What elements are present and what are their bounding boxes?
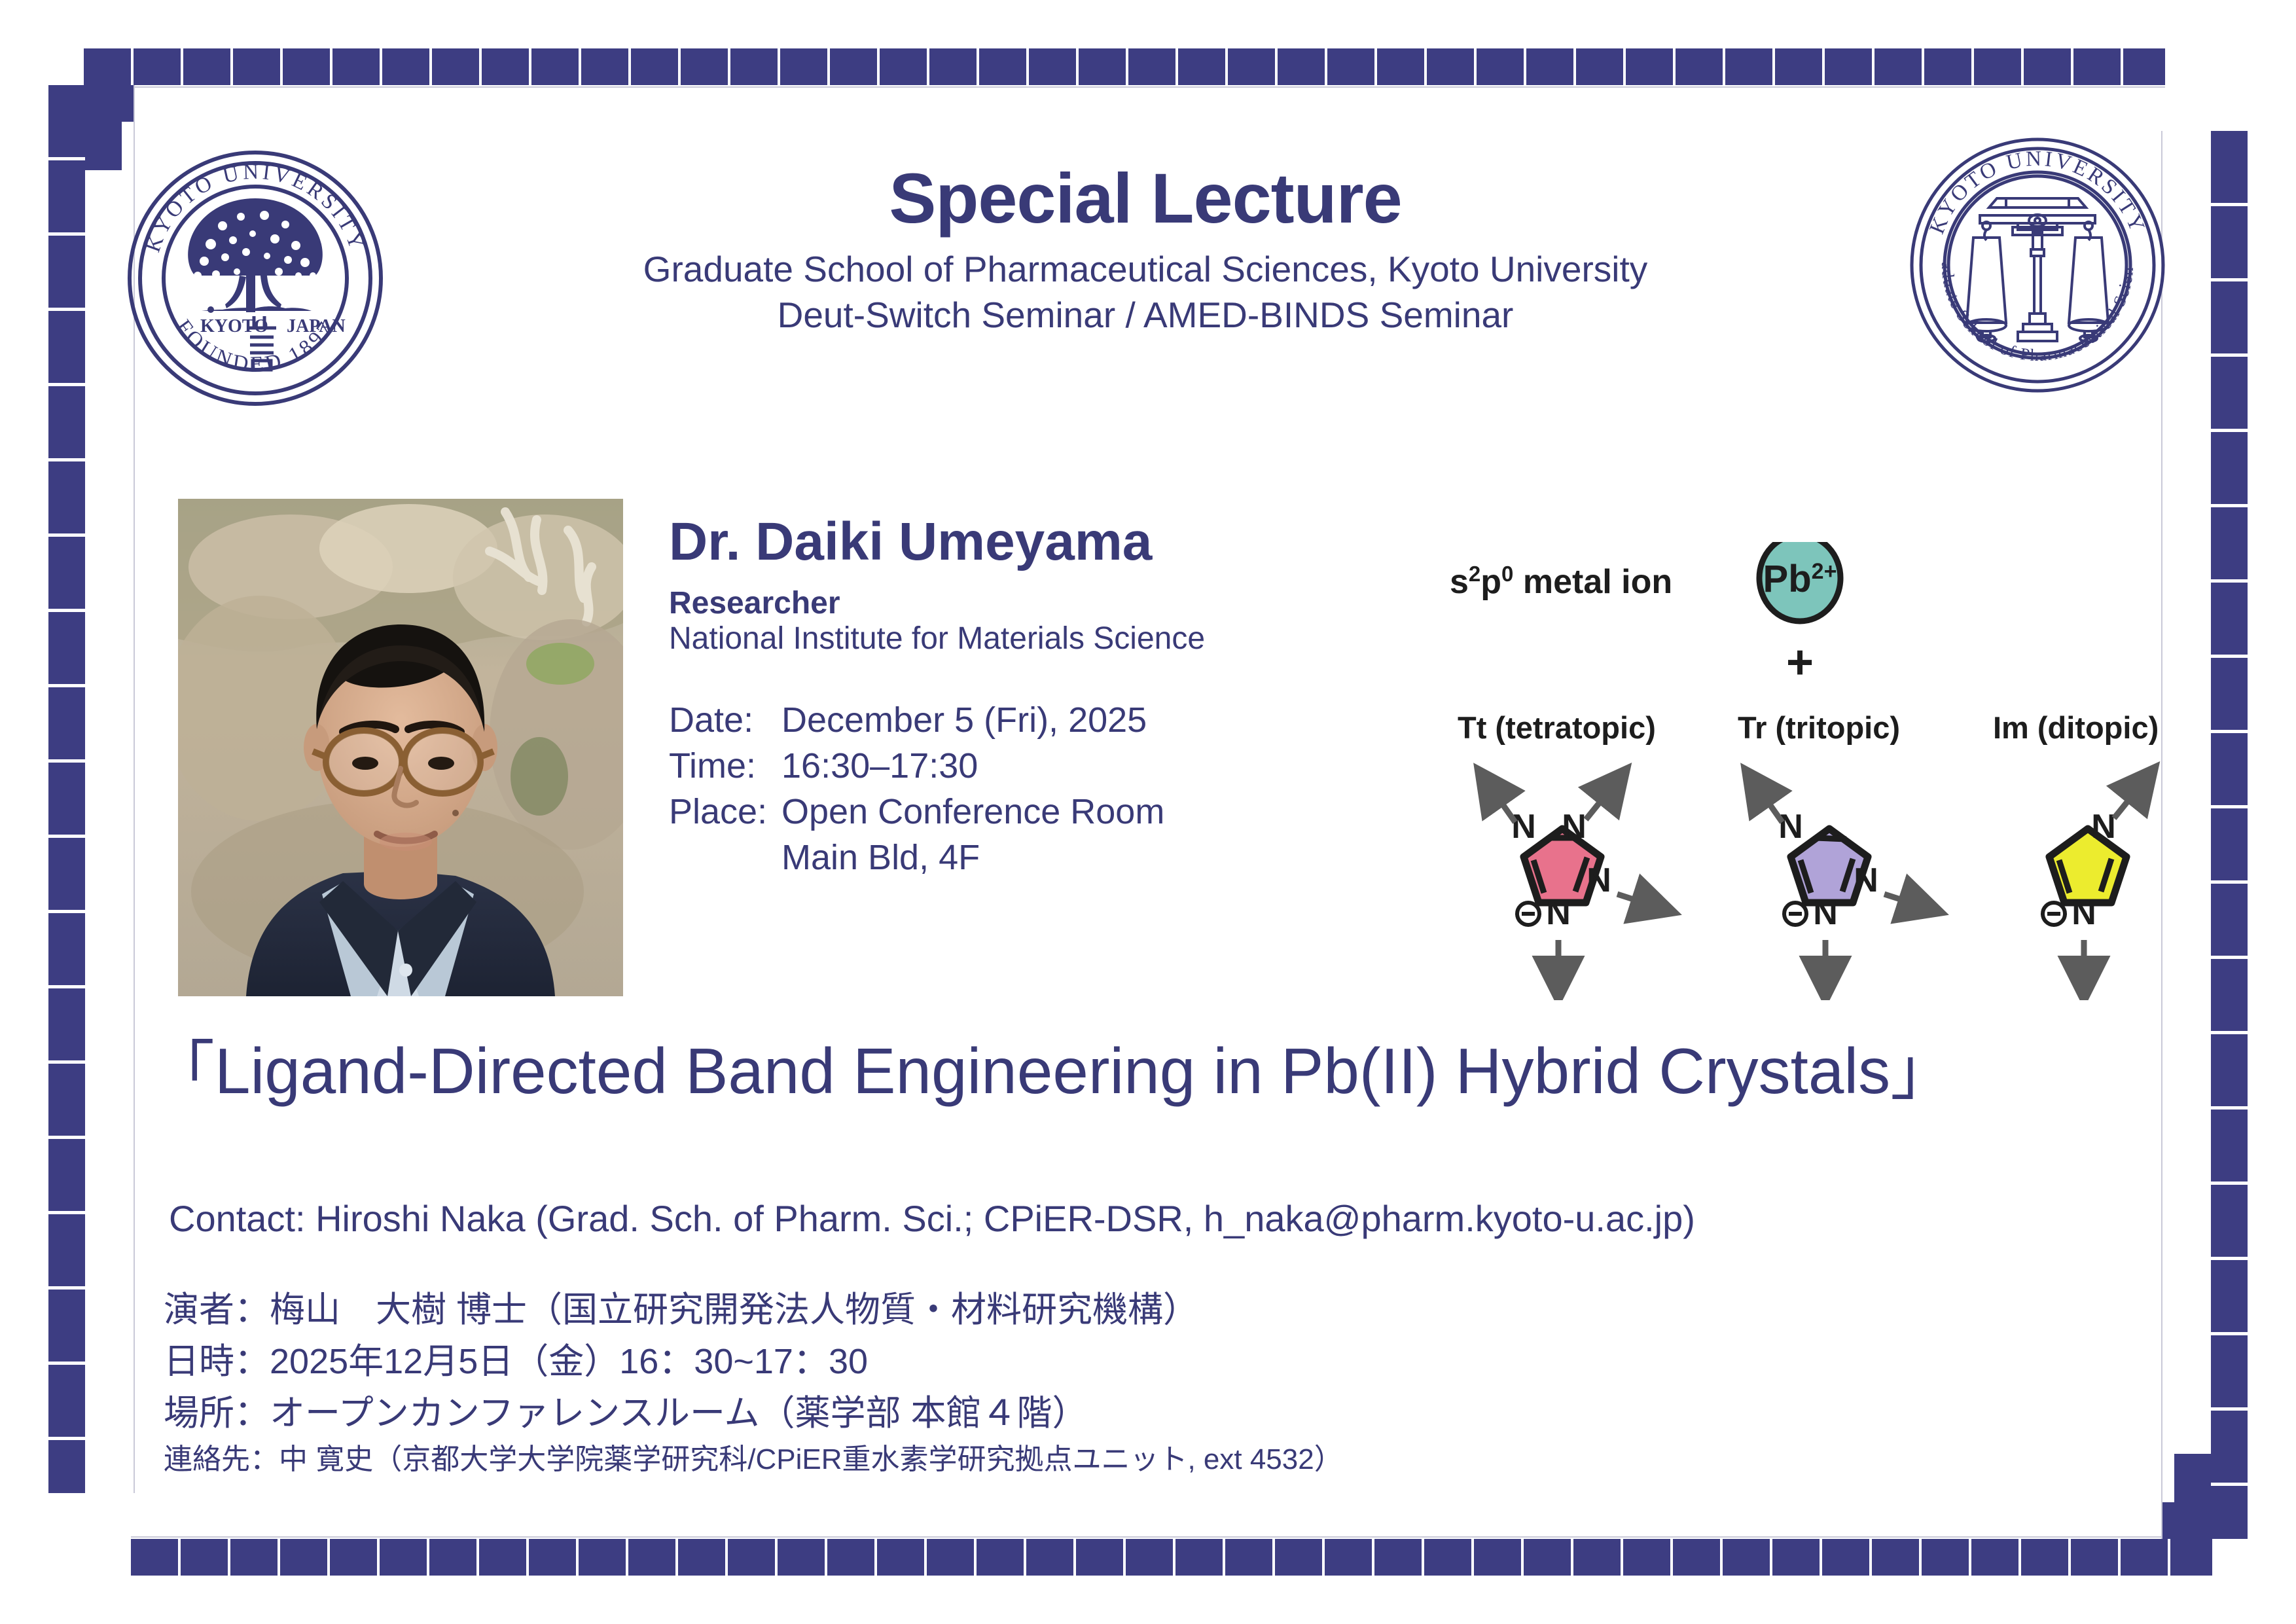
poster-header: Special Lecture Graduate School of Pharm… <box>497 160 1793 338</box>
place-value: Open Conference Room <box>781 789 1454 835</box>
svg-text:Tt (tetratopic): Tt (tetratopic) <box>1458 710 1656 745</box>
frame-corner-top-left <box>48 85 134 170</box>
frame-band-right <box>2211 131 2248 1539</box>
detail-row-time: Time: 16:30–17:30 <box>669 743 1454 789</box>
date-value: December 5 (Fri), 2025 <box>781 697 1454 743</box>
graduate-school-pharmaceutical-sciences-seal: KYOTO UNIVERSITY Graduate School of Phar… <box>1907 134 2168 396</box>
jp-place-line: 場所：オープンカンファレンスルーム（薬学部 本館４階） <box>164 1388 2178 1439</box>
contact-line: Contact: Hiroshi Naka (Grad. Sch. of Pha… <box>169 1197 2165 1240</box>
kyoto-university-seal: KYOTO JAPAN KYOTO UNIVERSITY FOUNDED 189… <box>124 147 386 409</box>
svg-text:N: N <box>1778 808 1803 846</box>
svg-text:N: N <box>1562 808 1587 846</box>
frame-band-top <box>84 48 2165 85</box>
speaker-info: Dr. Daiki Umeyama Researcher National In… <box>669 514 1454 880</box>
speaker-affiliation: National Institute for Materials Science <box>669 621 1454 657</box>
frame-hairline-top <box>84 86 2165 88</box>
place-value-line2: Main Bld, 4F <box>781 835 1454 880</box>
jp-contact-line: 連絡先：中 寛史（京都大学大学院薬学研究科/CPiER重水素学研究拠点ユニット,… <box>164 1439 2178 1481</box>
frame-band-bottom <box>131 1539 2212 1576</box>
svg-text:Im (ditopic): Im (ditopic) <box>1993 710 2159 745</box>
jp-datetime-line: 日時：2025年12月5日（金）16：30~17：30 <box>164 1336 2178 1388</box>
place-label: Place: <box>669 789 781 835</box>
subtitle-line-1: Graduate School of Pharmaceutical Scienc… <box>497 246 1793 292</box>
lecture-title: 「Ligand-Directed Band Engineering in Pb(… <box>151 1034 2165 1109</box>
time-value: 16:30–17:30 <box>781 743 1454 789</box>
event-details: Date: December 5 (Fri), 2025 Time: 16:30… <box>669 697 1454 881</box>
speaker-name: Dr. Daiki Umeyama <box>669 514 1454 570</box>
date-label: Date: <box>669 697 781 743</box>
page-title: Special Lecture <box>497 160 1793 237</box>
japanese-details-block: 演者：梅山 大樹 博士（国立研究開発法人物質・材料研究機構） 日時：2025年1… <box>164 1284 2178 1481</box>
jp-speaker-line: 演者：梅山 大樹 博士（国立研究開発法人物質・材料研究機構） <box>164 1284 2178 1336</box>
speaker-photo <box>178 499 623 996</box>
chemistry-scheme-figure: s2p0 metal ion Pb2+ + Tt (tetratopic) Tr… <box>1443 542 2215 1000</box>
svg-text:N: N <box>1587 861 1611 899</box>
detail-row-place: Place: Open Conference Room <box>669 789 1454 835</box>
svg-text:N: N <box>2091 808 2116 846</box>
svg-text:Tr (tritopic): Tr (tritopic) <box>1738 710 1900 745</box>
svg-text:s2p0 metal ion: s2p0 metal ion <box>1450 562 1672 601</box>
svg-text:N: N <box>1511 808 1536 846</box>
frame-hairline-bottom <box>131 1536 2212 1538</box>
subtitle-line-2: Deut-Switch Seminar / AMED-BINDS Seminar <box>497 292 1793 338</box>
detail-row-date: Date: December 5 (Fri), 2025 <box>669 697 1454 743</box>
svg-text:N: N <box>1813 894 1838 932</box>
frame-band-left <box>48 85 85 1493</box>
svg-text:N: N <box>1546 894 1571 932</box>
svg-text:+: + <box>1786 636 1814 689</box>
svg-text:N: N <box>2072 894 2096 932</box>
svg-text:N: N <box>1854 861 1878 899</box>
speaker-role: Researcher <box>669 586 1454 621</box>
time-label: Time: <box>669 743 781 789</box>
